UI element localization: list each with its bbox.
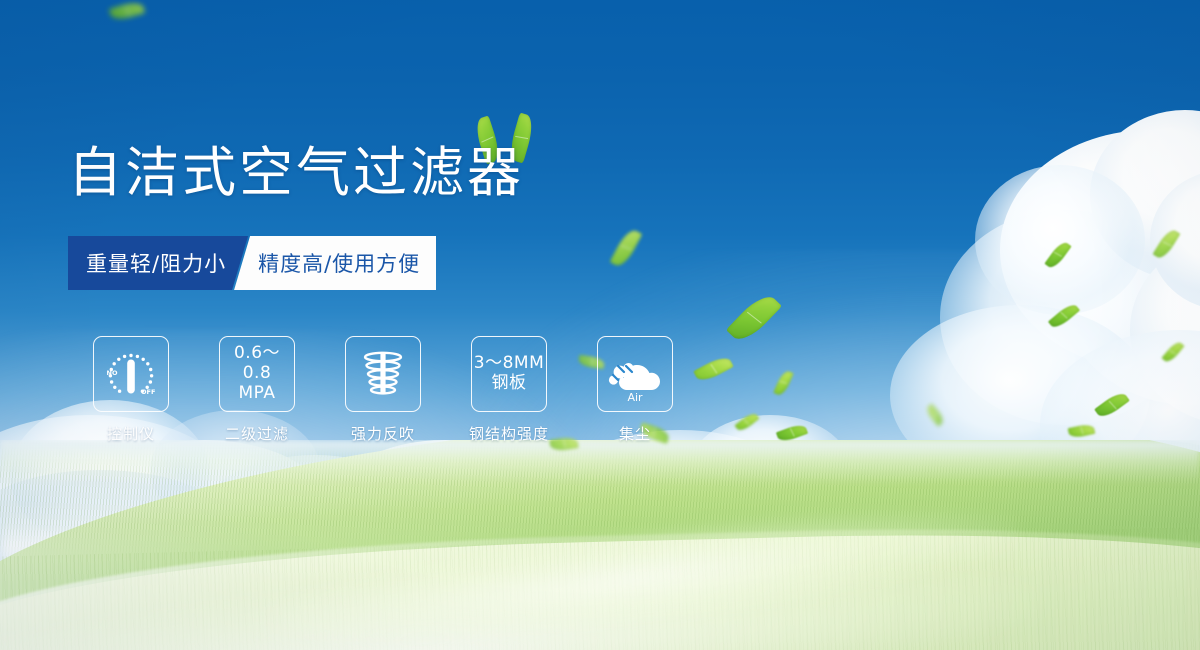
meadow	[0, 440, 1200, 650]
feature-list: NO OFF 控制仪 0.6～0.8 MPA 二级过滤	[68, 336, 698, 444]
feature-icon-box: NO OFF	[93, 336, 169, 412]
feature-item-dust-collection: Air 集尘	[572, 336, 698, 444]
subtitle-right-tag: 精度高/使用方便	[234, 236, 436, 290]
feature-item-secondary-filter: 0.6～0.8 MPA 二级过滤	[194, 336, 320, 444]
feature-icon-box: 3～8MM 钢板	[471, 336, 547, 412]
hero-banner: 自洁式空气过滤器 重量轻/阻力小 精度高/使用方便	[0, 0, 1200, 650]
steel-value-line2: 钢板	[474, 374, 544, 394]
feature-item-steel-strength: 3～8MM 钢板 钢结构强度	[446, 336, 572, 444]
pressure-value-icon: 0.6～0.8 MPA	[220, 344, 294, 403]
feature-label: 强力反吹	[351, 423, 415, 444]
subtitle-banner: 重量轻/阻力小 精度高/使用方便	[68, 236, 462, 290]
feature-icon-box: 0.6～0.8 MPA	[219, 336, 295, 412]
subtitle-left-tag: 重量轻/阻力小	[68, 236, 248, 290]
gauge-off-label: OFF	[141, 388, 155, 396]
feature-item-backblow: 强力反吹	[320, 336, 446, 444]
feature-label: 二级过滤	[225, 423, 289, 444]
gauge-dial-icon: NO OFF	[99, 342, 163, 406]
pressure-value-line1: 0.6～0.8	[220, 344, 294, 383]
filter-coil-icon	[354, 345, 412, 403]
air-caption: Air	[627, 391, 643, 404]
feature-icon-box	[345, 336, 421, 412]
page-title: 自洁式空气过滤器	[68, 146, 524, 200]
horizon-blend	[0, 440, 1200, 484]
feature-label: 控制仪	[107, 423, 155, 444]
feature-icon-box: Air	[597, 336, 673, 412]
steel-value-line1: 3～8MM	[474, 354, 544, 374]
pressure-value-line2: MPA	[220, 384, 294, 404]
feature-label: 集尘	[619, 423, 651, 444]
air-cloud-icon: Air	[604, 344, 666, 404]
feature-item-controller: NO OFF 控制仪	[68, 336, 194, 444]
gauge-no-label: NO	[107, 369, 118, 377]
feature-label: 钢结构强度	[469, 423, 549, 444]
steel-plate-icon: 3～8MM 钢板	[474, 354, 544, 393]
